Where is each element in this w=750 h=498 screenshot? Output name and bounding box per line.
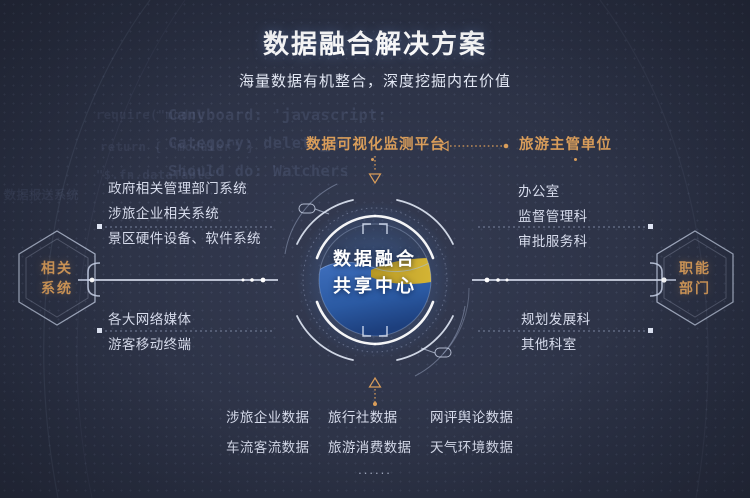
list-item: 监督管理科 <box>518 204 588 229</box>
page-title: 数据融合解决方案 <box>0 24 750 61</box>
hexagon-left-label: 相关 系统 <box>14 228 100 328</box>
hexagon-right-line1: 职能 <box>679 258 711 278</box>
hexagon-functional-departments[interactable]: 职能 部门 <box>652 228 738 328</box>
hub-rings-graphic <box>275 158 475 383</box>
bottom-data-source-grid: 涉旅企业数据 旅行社数据 网评舆论数据 车流客流数据 旅游消费数据 天气环境数据 <box>226 405 526 460</box>
list-item: 旅行社数据 <box>328 405 430 430</box>
left-top-system-list: 政府相关管理部门系统 涉旅企业相关系统 景区硬件设备、软件系统 <box>108 176 261 251</box>
list-item: 各大网络媒体 <box>108 307 191 332</box>
list-item: 政府相关管理部门系统 <box>108 176 261 201</box>
label-visualization-platform: 数据可视化监测平台 <box>306 133 446 154</box>
hexagon-left-line2: 系统 <box>41 278 73 298</box>
data-fusion-hub[interactable]: 数据融合 共享中心 <box>275 158 475 383</box>
list-item: 景区硬件设备、软件系统 <box>108 226 261 251</box>
list-item: 审批服务科 <box>518 229 588 254</box>
hexagon-related-systems[interactable]: 相关 系统 <box>14 228 100 328</box>
list-item: 网评舆论数据 <box>430 405 526 430</box>
right-bottom-department-list: 规划发展科 其他科室 <box>521 307 591 357</box>
list-item: 天气环境数据 <box>430 435 526 460</box>
list-item: 旅游消费数据 <box>328 435 430 460</box>
list-item: 规划发展科 <box>521 307 591 332</box>
triangle-up-marker-icon <box>366 376 384 406</box>
label-tourism-authority: 旅游主管单位 <box>519 133 612 154</box>
left-bottom-system-list: 各大网络媒体 游客移动终端 <box>108 307 191 357</box>
infographic-canvas: Canyboard: 'javascript: Category: delete… <box>0 0 750 498</box>
bottom-ellipsis: ...... <box>0 462 750 477</box>
right-top-department-list: 办公室 监督管理科 审批服务科 <box>518 179 588 254</box>
list-item: 办公室 <box>518 179 588 204</box>
list-item: 车流客流数据 <box>226 435 328 460</box>
page-subtitle: 海量数据有机整合，深度挖掘内在价值 <box>0 70 750 91</box>
hexagon-right-label: 职能 部门 <box>652 228 738 328</box>
list-item: 涉旅企业相关系统 <box>108 201 261 226</box>
list-item: 涉旅企业数据 <box>226 405 328 430</box>
dotted-left-arrow-icon <box>428 139 512 153</box>
authority-tick-dot <box>574 158 577 161</box>
hexagon-left-line1: 相关 <box>41 258 73 278</box>
list-item: 其他科室 <box>521 332 591 357</box>
list-item: 游客移动终端 <box>108 332 191 357</box>
triangle-down-marker-icon <box>366 156 384 186</box>
hexagon-right-line2: 部门 <box>679 278 711 298</box>
